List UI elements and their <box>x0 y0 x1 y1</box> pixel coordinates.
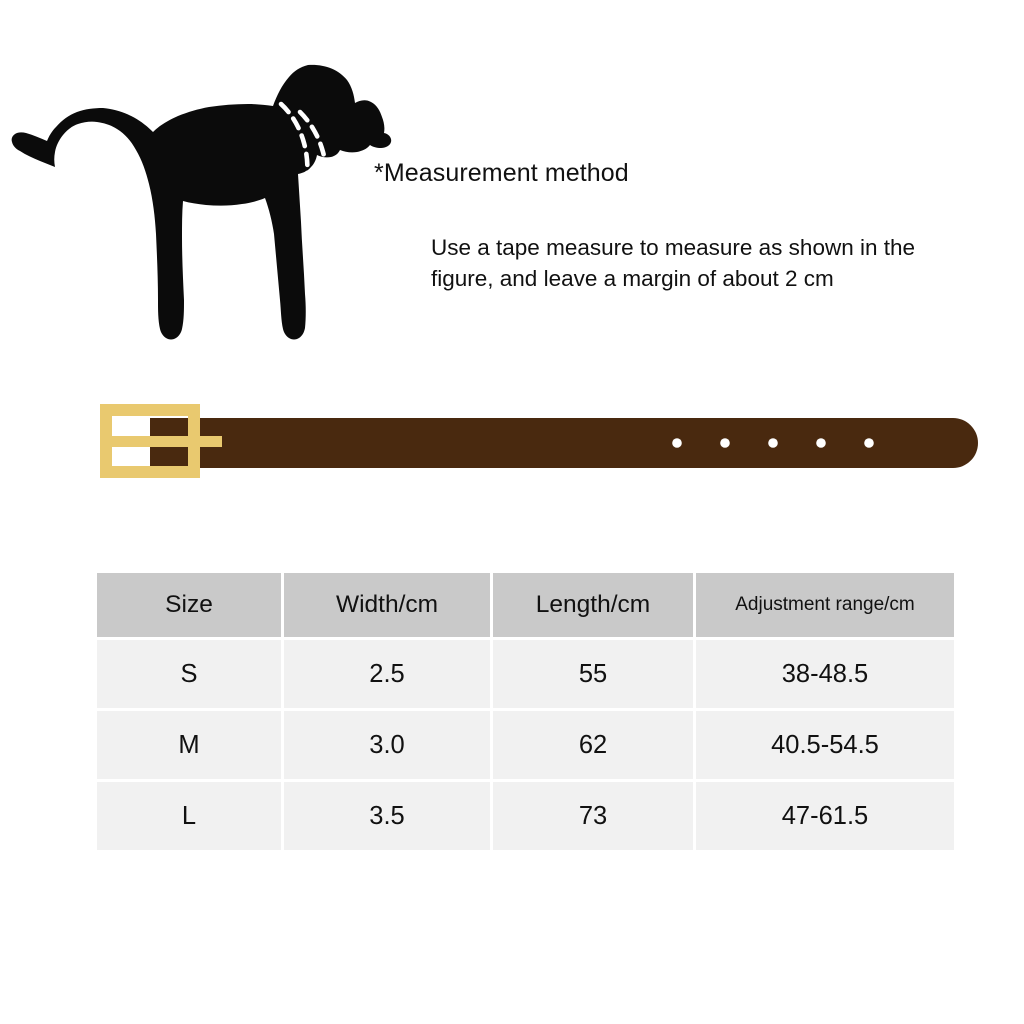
column-header-size: Size <box>97 573 281 637</box>
cell-adjustment: 38-48.5 <box>696 640 954 708</box>
dog-body-shape <box>12 65 392 340</box>
cell-size: S <box>97 640 281 708</box>
table-row: M 3.0 62 40.5-54.5 <box>97 711 954 779</box>
cell-width: 2.5 <box>284 640 490 708</box>
belt-strap <box>150 418 978 468</box>
cell-adjustment: 40.5-54.5 <box>696 711 954 779</box>
cell-length: 55 <box>493 640 693 708</box>
dog-collar-belt-illustration <box>0 380 1024 500</box>
cell-size: L <box>97 782 281 850</box>
buckle-prong <box>112 436 222 447</box>
table-row: S 2.5 55 38-48.5 <box>97 640 954 708</box>
measurement-method-description: Use a tape measure to measure as shown i… <box>431 232 971 294</box>
cell-width: 3.5 <box>284 782 490 850</box>
cell-width: 3.0 <box>284 711 490 779</box>
size-chart-table: Size Width/cm Length/cm Adjustment range… <box>94 570 957 853</box>
cell-size: M <box>97 711 281 779</box>
cell-adjustment: 47-61.5 <box>696 782 954 850</box>
measurement-method-heading: *Measurement method <box>374 158 629 189</box>
dog-silhouette-icon <box>8 62 418 357</box>
column-header-length: Length/cm <box>493 573 693 637</box>
measurement-illustration-section: *Measurement method Use a tape measure t… <box>0 0 1024 370</box>
table-header-row: Size Width/cm Length/cm Adjustment range… <box>97 573 954 637</box>
column-header-adjustment-range: Adjustment range/cm <box>696 573 954 637</box>
table-row: L 3.5 73 47-61.5 <box>97 782 954 850</box>
cell-length: 62 <box>493 711 693 779</box>
column-header-width: Width/cm <box>284 573 490 637</box>
cell-length: 73 <box>493 782 693 850</box>
